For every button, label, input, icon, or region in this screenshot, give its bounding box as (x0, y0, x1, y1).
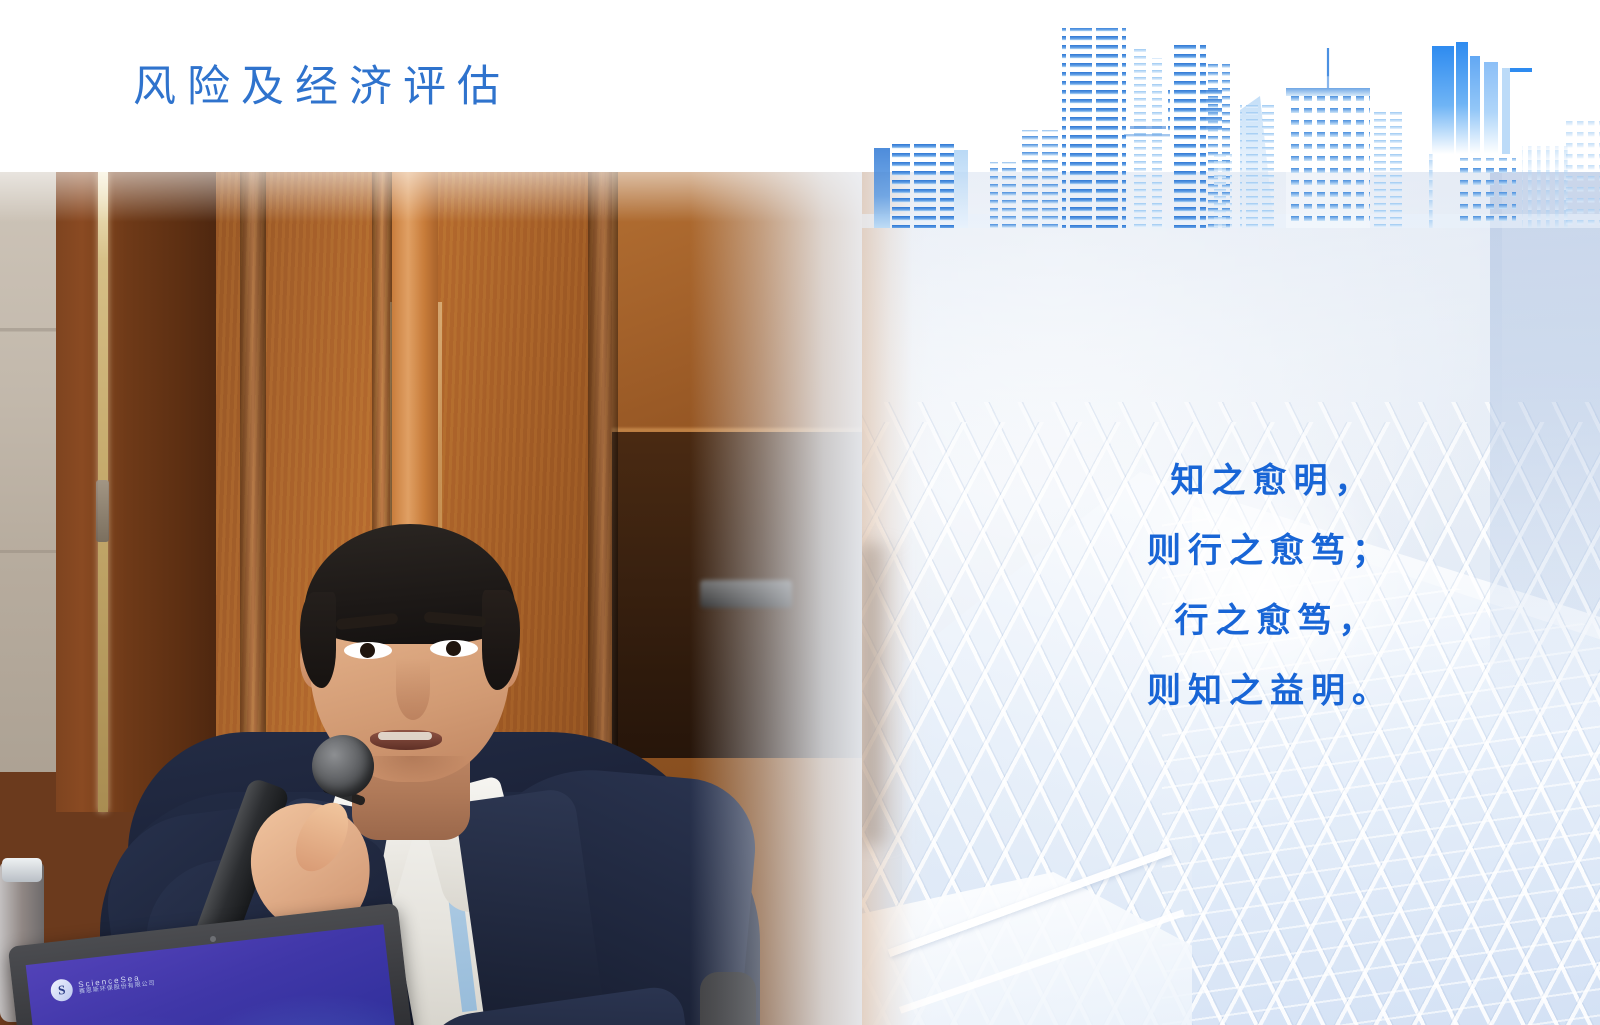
blue-overlay-slab (1490, 172, 1600, 732)
quote-block: 知之愈明， 则行之愈笃； 行之愈笃， 则知之益明。 (1060, 446, 1480, 726)
quote-line-2: 则行之愈笃； (1060, 516, 1480, 586)
sciencesea-logo-text: ScienceSea 赛恩斯环保股份有限公司 (78, 972, 156, 995)
speaker-pupil-right (446, 641, 461, 656)
speaker-teeth (378, 732, 432, 740)
quote-line-3: 行之愈笃， (1060, 586, 1480, 656)
microphone-head (312, 735, 374, 797)
laptop-slide-headline: 夯实根基共提升·思想赋新齐发力 (62, 1021, 384, 1025)
dark-wood-door (56, 172, 216, 812)
page-title: 风险及经济评估 (133, 66, 511, 109)
photo-warm-bleed-shadow (862, 544, 906, 844)
sciencesea-logo: S ScienceSea 赛恩斯环保股份有限公司 (50, 969, 157, 1003)
water-bottle-cap (2, 858, 42, 882)
quote-line-1: 知之愈明， (1060, 446, 1480, 516)
quote-line-4: 则知之益明。 (1060, 656, 1480, 726)
speaker-photo: S ScienceSea 赛恩斯环保股份有限公司 夯实根基共提升·思想赋新齐发力… (0, 172, 905, 1025)
speaker-nose (396, 658, 430, 720)
sciencesea-logo-mark: S (50, 978, 74, 1002)
door-handle (96, 480, 109, 542)
blue-overlay-wide (862, 172, 1502, 492)
header-band: 风险及经济评估 (0, 0, 1600, 172)
speaker-pupil-left (360, 643, 375, 658)
slide-root: S ScienceSea 赛恩斯环保股份有限公司 夯实根基共提升·思想赋新齐发力… (0, 0, 1600, 1025)
